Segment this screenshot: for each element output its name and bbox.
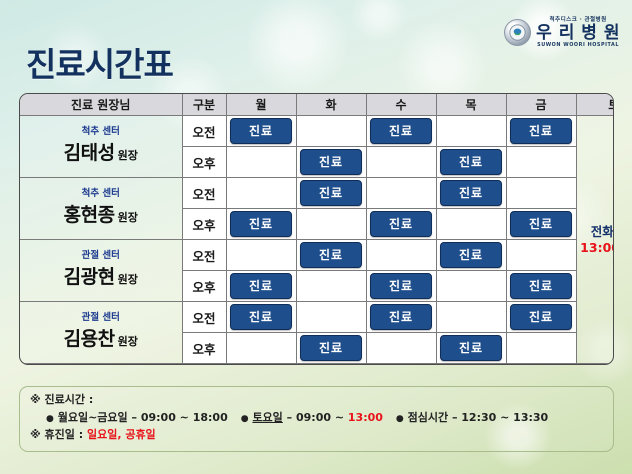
- header-mon: 월: [226, 94, 296, 116]
- header-sat: 토: [576, 94, 614, 116]
- slot-wed: [366, 240, 436, 271]
- table-row: 관절 센터김용찬원장오전진료진료진료: [20, 302, 614, 333]
- doctor-center-label: 척추 센터: [20, 189, 182, 199]
- consult-badge: 진료: [510, 273, 572, 299]
- doctor-name: 김태성: [64, 142, 115, 164]
- note-item-label: 월요일~금요일: [58, 411, 128, 424]
- doctor-center-label: 관절 센터: [20, 251, 182, 261]
- session-cell: 오후: [182, 333, 226, 364]
- note-hours-items: ● 월요일~금요일 – 09:00 ~ 18:00● 토요일 – 09:00 ~…: [30, 412, 613, 425]
- consult-badge: 진료: [440, 242, 502, 268]
- consult-badge: 진료: [230, 304, 292, 330]
- consult-badge: 진료: [370, 118, 432, 144]
- doctor-center-label: 척추 센터: [20, 127, 182, 137]
- slot-mon: 진료: [226, 302, 296, 333]
- doctor-cell: 관절 센터김용찬원장: [20, 302, 182, 364]
- session-cell: 오전: [182, 178, 226, 209]
- schedule-poster: 진료시간표 척추디스크 · 관절병원 우 리 병 원 SUWON WOORI H…: [0, 0, 632, 474]
- slot-wed: 진료: [366, 271, 436, 302]
- doctor-name: 김광현: [64, 266, 115, 288]
- note-bullet-icon: ●: [46, 414, 54, 424]
- slot-fri: [506, 333, 576, 364]
- note-item: ● 월요일~금요일 – 09:00 ~ 18:00: [46, 411, 228, 424]
- slot-fri: 진료: [506, 302, 576, 333]
- header-session: 구분: [182, 94, 226, 116]
- session-cell: 오전: [182, 116, 226, 147]
- note-item-time: 09:00 ~ 18:00: [141, 411, 228, 424]
- consult-badge: 진료: [440, 180, 502, 206]
- consult-badge: 진료: [370, 304, 432, 330]
- schedule-table: 진료 원장님 구분 월 화 수 목 금 토 척추 센터김태성원장오전진료진료진료…: [20, 94, 614, 364]
- consult-badge: 진료: [230, 211, 292, 237]
- note-hours-title: ※ 진료시간 :: [30, 394, 613, 407]
- consult-badge: 진료: [370, 273, 432, 299]
- slot-mon: [226, 147, 296, 178]
- slot-thu: [436, 209, 506, 240]
- logo-subname: SUWON WOORI HOSPITAL: [537, 43, 619, 48]
- logo-name: 우 리 병 원: [536, 25, 620, 42]
- slot-mon: 진료: [226, 209, 296, 240]
- slot-wed: [366, 178, 436, 209]
- note-item-dash: –: [287, 411, 293, 424]
- session-cell: 오후: [182, 271, 226, 302]
- consult-badge: 진료: [510, 118, 572, 144]
- consult-badge: 진료: [300, 180, 362, 206]
- session-cell: 오후: [182, 209, 226, 240]
- consult-badge: 진료: [370, 211, 432, 237]
- note-item-label: 토요일: [252, 411, 282, 424]
- slot-fri: 진료: [506, 209, 576, 240]
- slot-tue: [296, 209, 366, 240]
- doctor-role: 원장: [118, 335, 138, 348]
- note-item: ● 토요일 – 09:00 ~ 13:00: [241, 411, 383, 424]
- consult-badge: 진료: [300, 335, 362, 361]
- slot-wed: 진료: [366, 116, 436, 147]
- session-cell: 오전: [182, 240, 226, 271]
- slot-fri: [506, 147, 576, 178]
- notes-panel: ※ 진료시간 : ● 월요일~금요일 – 09:00 ~ 18:00● 토요일 …: [19, 386, 614, 452]
- note-closed-value: 일요일, 공휴일: [87, 428, 156, 441]
- slot-mon: [226, 178, 296, 209]
- slot-wed: [366, 147, 436, 178]
- session-cell: 오후: [182, 147, 226, 178]
- header-tue: 화: [296, 94, 366, 116]
- page-title: 진료시간표: [26, 38, 173, 86]
- consult-badge: 진료: [300, 149, 362, 175]
- doctor-role: 원장: [118, 211, 138, 224]
- note-item-time-highlight: 13:00: [348, 411, 383, 424]
- note-item-dash: –: [131, 411, 137, 424]
- slot-mon: [226, 240, 296, 271]
- saturday-note-cell: 전화문의13:00 까지: [576, 116, 614, 364]
- hospital-logo: 척추디스크 · 관절병원 우 리 병 원 SUWON WOORI HOSPITA…: [504, 18, 620, 48]
- note-item: ● 점심시간 – 12:30 ~ 13:30: [396, 411, 548, 424]
- table-row: 척추 센터홍현종원장오전진료진료: [20, 178, 614, 209]
- consult-badge: 진료: [510, 211, 572, 237]
- slot-mon: [226, 333, 296, 364]
- consult-badge: 진료: [440, 149, 502, 175]
- doctor-cell: 척추 센터김태성원장: [20, 116, 182, 178]
- slot-wed: 진료: [366, 209, 436, 240]
- table-header-row: 진료 원장님 구분 월 화 수 목 금 토: [20, 94, 614, 116]
- saturday-note-line1: 전화문의: [577, 224, 615, 240]
- slot-tue: 진료: [296, 333, 366, 364]
- slot-tue: [296, 271, 366, 302]
- slot-thu: [436, 302, 506, 333]
- slot-fri: 진료: [506, 116, 576, 147]
- slot-fri: [506, 240, 576, 271]
- consult-badge: 진료: [440, 335, 502, 361]
- slot-tue: [296, 116, 366, 147]
- doctor-cell: 척추 센터홍현종원장: [20, 178, 182, 240]
- schedule-table-card: 진료 원장님 구분 월 화 수 목 금 토 척추 센터김태성원장오전진료진료진료…: [19, 93, 614, 365]
- consult-badge: 진료: [300, 242, 362, 268]
- slot-fri: [506, 178, 576, 209]
- doctor-cell: 관절 센터김광현원장: [20, 240, 182, 302]
- table-row: 척추 센터김태성원장오전진료진료진료전화문의13:00 까지: [20, 116, 614, 147]
- slot-fri: 진료: [506, 271, 576, 302]
- doctor-role: 원장: [118, 149, 138, 162]
- note-bullet-icon: ●: [396, 414, 404, 424]
- note-item-time: 12:30 ~ 13:30: [461, 411, 548, 424]
- doctor-name: 김용찬: [64, 328, 115, 350]
- consult-badge: 진료: [230, 118, 292, 144]
- session-cell: 오전: [182, 302, 226, 333]
- saturday-note-line2: 13:00 까지: [577, 240, 615, 256]
- note-bullet-icon: ●: [241, 414, 249, 424]
- slot-wed: 진료: [366, 302, 436, 333]
- doctor-role: 원장: [118, 273, 138, 286]
- slot-tue: 진료: [296, 240, 366, 271]
- doctor-name: 홍현종: [64, 204, 115, 226]
- slot-mon: 진료: [226, 116, 296, 147]
- header-wed: 수: [366, 94, 436, 116]
- slot-thu: [436, 271, 506, 302]
- note-item-label: 점심시간: [408, 411, 448, 424]
- consult-badge: 진료: [510, 304, 572, 330]
- slot-tue: [296, 302, 366, 333]
- doctor-center-label: 관절 센터: [20, 313, 182, 323]
- header-doctor: 진료 원장님: [20, 94, 182, 116]
- header-thu: 목: [436, 94, 506, 116]
- slot-tue: 진료: [296, 178, 366, 209]
- slot-tue: 진료: [296, 147, 366, 178]
- note-item-time: 09:00 ~: [296, 411, 348, 424]
- schedule-table-body: 척추 센터김태성원장오전진료진료진료전화문의13:00 까지오후진료진료척추 센…: [20, 116, 614, 364]
- slot-wed: [366, 333, 436, 364]
- hospital-leaf-icon: [504, 19, 531, 46]
- slot-mon: 진료: [226, 271, 296, 302]
- header-fri: 금: [506, 94, 576, 116]
- consult-badge: 진료: [230, 273, 292, 299]
- note-closed-label: ※ 휴진일 :: [30, 428, 87, 441]
- table-row: 관절 센터김광현원장오전진료진료: [20, 240, 614, 271]
- slot-thu: 진료: [436, 147, 506, 178]
- note-item-dash: –: [452, 411, 458, 424]
- note-closed-days: ※ 휴진일 : 일요일, 공휴일: [30, 429, 613, 442]
- slot-thu: 진료: [436, 240, 506, 271]
- slot-thu: 진료: [436, 333, 506, 364]
- slot-thu: [436, 116, 506, 147]
- slot-thu: 진료: [436, 178, 506, 209]
